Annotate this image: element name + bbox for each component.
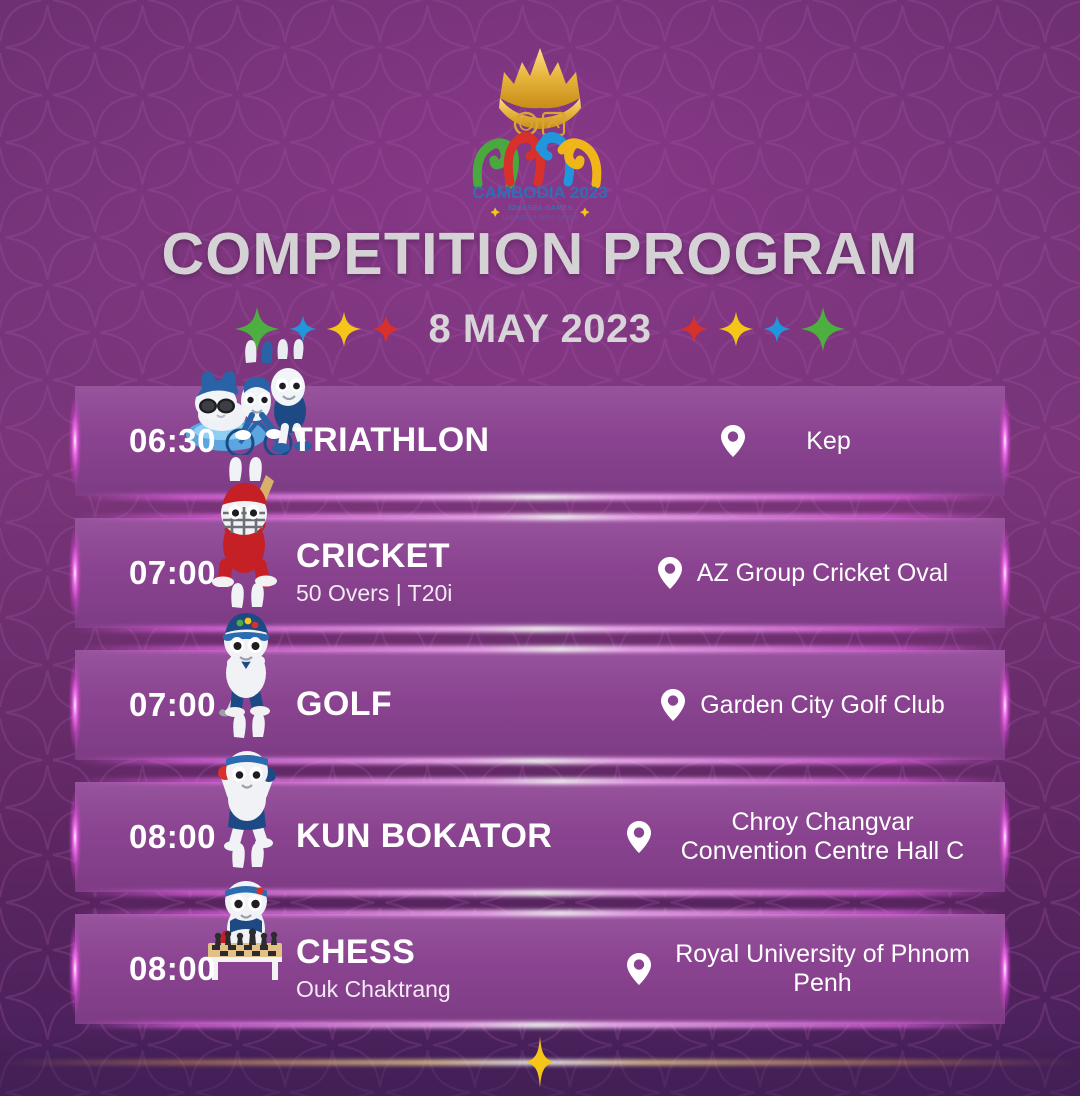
location-pin-icon <box>626 820 652 854</box>
star-group-right <box>679 306 846 352</box>
venue-name: AZ Group Cricket Oval <box>697 559 948 588</box>
event-time: 07:00 <box>75 554 270 592</box>
sea-games-logo: CAMBODIA 2023 32nd SEA GAMES 12th ASEAN … <box>440 32 640 207</box>
poster-footer <box>0 1030 1080 1096</box>
venue-cell: Garden City Golf Club <box>626 688 1005 722</box>
sport-name: CHESS <box>296 935 626 971</box>
event-time: 08:00 <box>75 950 270 988</box>
sport-name: TRIATHLON <box>292 423 592 459</box>
sport-cell: TRIATHLON <box>292 423 592 459</box>
venue-name: Chroy Changvar Convention Centre Hall C <box>666 808 979 866</box>
sport-cell: CRICKET 50 Overs | T20i <box>296 539 626 606</box>
event-time: 07:00 <box>75 686 270 724</box>
star-red-icon <box>371 314 401 344</box>
date-row: 8 MAY 2023 <box>0 306 1080 352</box>
star-blue-icon <box>763 315 791 343</box>
location-pin-icon <box>626 952 652 986</box>
star-green-icon <box>800 306 846 352</box>
competition-program-poster: CAMBODIA 2023 32nd SEA GAMES 12th ASEAN … <box>0 0 1080 1096</box>
event-time: 06:30 <box>75 422 270 460</box>
venue-name: Garden City Golf Club <box>700 691 945 720</box>
venue-name: Kep <box>806 427 850 456</box>
sport-name: GOLF <box>296 687 626 723</box>
venue-cell: Kep <box>592 424 1005 458</box>
sport-cell: KUN BOKATOR <box>296 819 626 855</box>
event-time: 08:00 <box>75 818 270 856</box>
sport-subtitle: Ouk Chaktrang <box>296 976 626 1002</box>
location-pin-icon <box>657 556 683 590</box>
venue-cell: AZ Group Cricket Oval <box>626 556 1005 590</box>
poster-header: CAMBODIA 2023 32nd SEA GAMES 12th ASEAN … <box>0 32 1080 352</box>
star-yellow-icon <box>718 311 754 347</box>
star-yellow-icon <box>326 311 362 347</box>
sport-name: CRICKET <box>296 539 626 575</box>
sport-cell: CHESS Ouk Chaktrang <box>296 935 626 1002</box>
page-title: COMPETITION PROGRAM <box>0 225 1080 284</box>
venue-cell: Chroy Changvar Convention Centre Hall C <box>626 808 1005 866</box>
event-schedule-list: 06:30 <box>0 386 1080 1024</box>
logo-line3: 12th ASEAN PARA GAMES <box>502 215 578 221</box>
event-row-chess[interactable]: 08:00 <box>75 914 1005 1024</box>
sport-subtitle: 50 Overs | T20i <box>296 580 626 606</box>
sport-cell: GOLF <box>296 687 626 723</box>
sport-name: KUN BOKATOR <box>296 819 626 855</box>
venue-cell: Royal University of Phnom Penh <box>626 940 1005 998</box>
logo-line2: 32nd SEA GAMES <box>507 203 572 212</box>
location-pin-icon <box>660 688 686 722</box>
logo-line1: CAMBODIA 2023 <box>472 183 607 202</box>
row-glow-bottom <box>75 1022 1005 1028</box>
gold-star-divider-icon <box>525 1034 555 1090</box>
venue-name: Royal University of Phnom Penh <box>666 940 979 998</box>
location-pin-icon <box>720 424 746 458</box>
event-date: 8 MAY 2023 <box>429 307 652 352</box>
star-red-icon <box>679 314 709 344</box>
